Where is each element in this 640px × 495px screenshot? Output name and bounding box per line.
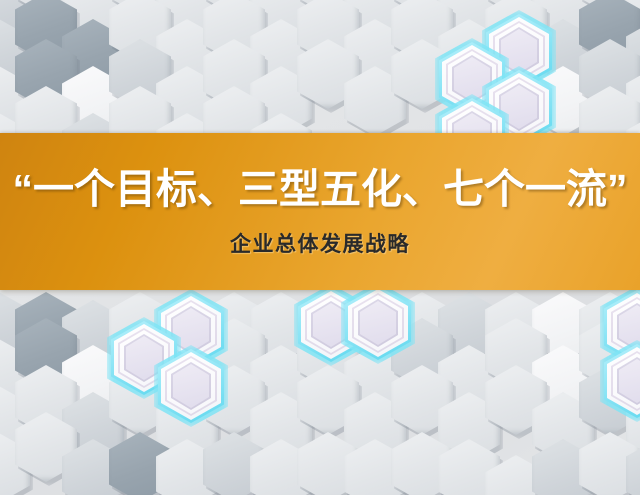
glowing-hexagon — [606, 346, 640, 416]
page-title: “一个目标、三型五化、七个一流” — [13, 165, 628, 215]
title-banner: “一个目标、三型五化、七个一流” 企业总体发展战略 — [0, 133, 640, 290]
slide-canvas: “一个目标、三型五化、七个一流” 企业总体发展战略 — [0, 0, 640, 495]
glowing-hexagon — [347, 288, 409, 358]
glowing-hexagon — [160, 351, 222, 421]
page-subtitle: 企业总体发展战略 — [230, 228, 410, 258]
